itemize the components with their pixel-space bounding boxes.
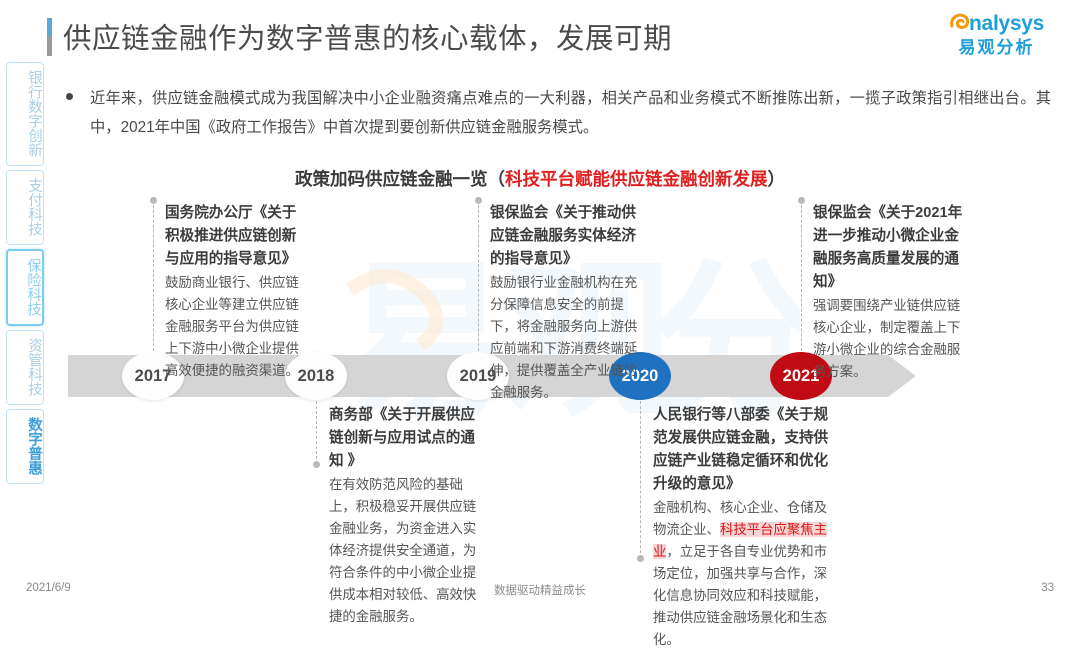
sidebar-item-label: 资管科技	[24, 338, 43, 396]
connector-2021	[801, 200, 802, 356]
sidebar-item-payment-tech[interactable]: 支付科技	[6, 170, 44, 245]
sidebar-item-label: 银行数字创新	[24, 70, 43, 157]
policy-card-heading: 商务部《关于开展供应链创新与应用试点的通知 》	[329, 404, 481, 473]
sidebar-item-insurance-tech[interactable]: 保险科技	[6, 249, 44, 326]
logo-text: nalysys	[969, 12, 1044, 35]
sidebar-item-label: 保险科技	[23, 258, 42, 316]
policy-card-heading: 银保监会《关于推动供应链金融服务实体经济的指导意见》	[490, 202, 640, 271]
page-title: 供应链金融作为数字普惠的核心载体，发展可期	[63, 16, 672, 57]
logo-wordmark: nalysys	[949, 12, 1044, 37]
policy-card-2020: 人民银行等八部委《关于规范发展供应链金融，支持供应链产业链稳定循环和优化升级的意…	[653, 404, 839, 651]
footer-page-number: 33	[1041, 582, 1054, 594]
sidebar: 银行数字创新 支付科技 保险科技 资管科技 数字普惠	[6, 62, 46, 488]
chart-title-main: 政策加码供应链金融一览	[295, 169, 488, 189]
policy-card-2019: 银保监会《关于推动供应链金融服务实体经济的指导意见》 鼓励银行业金融机构在充分保…	[490, 202, 640, 404]
sidebar-item-label: 支付科技	[24, 178, 43, 236]
title-accent-bar	[47, 18, 52, 56]
sidebar-item-bank-digital-innovation[interactable]: 银行数字创新	[6, 62, 44, 166]
policy-card-body-2020: 金融机构、核心企业、仓储及物流企业、科技平台应聚焦主业，立足于各自专业优势和市场…	[653, 497, 839, 651]
policy-card-2018: 商务部《关于开展供应链创新与应用试点的通知 》 在有效防范风险的基础上，积极稳妥…	[329, 404, 481, 628]
policy-card-2021: 银保监会《关于2021年进一步推动小微企业金融服务高质量发展的通知》 强调要围绕…	[813, 202, 965, 383]
connector-2020	[640, 396, 641, 558]
sidebar-item-asset-management-tech[interactable]: 资管科技	[6, 330, 44, 405]
swoosh-icon	[949, 12, 971, 37]
policy-card-heading: 人民银行等八部委《关于规范发展供应链金融，支持供应链产业链稳定循环和优化升级的意…	[653, 404, 839, 496]
logo-subtitle: 易观分析	[949, 38, 1044, 58]
policy-card-body: 强调要围绕产业链供应链核心企业，制定覆盖上下游小微企业的综合金融服务方案。	[813, 295, 965, 383]
lead-paragraph: 近年来，供应链金融模式成为我国解决中小企业融资痛点难点的一大利器，相关产品和业务…	[66, 84, 1051, 142]
connector-dot-2018	[313, 461, 320, 468]
policy-card-heading: 银保监会《关于2021年进一步推动小微企业金融服务高质量发展的通知》	[813, 202, 965, 294]
chart-title-paren-close: ）	[768, 169, 786, 189]
connector-dot-2021	[798, 197, 805, 204]
connector-dot-2020	[637, 555, 644, 562]
sidebar-item-label: 数字普惠	[24, 417, 43, 475]
policy-card-body: 鼓励商业银行、供应链核心企业等建立供应链金融服务平台为供应链上下游中小微企业提供…	[165, 272, 310, 382]
chart-title-paren-open: （	[488, 169, 506, 189]
lead-paragraph-text: 近年来，供应链金融模式成为我国解决中小企业融资痛点难点的一大利器，相关产品和业务…	[90, 84, 1051, 142]
policy-card-body: 鼓励银行业金融机构在充分保障信息安全的前提下，将金融服务向上游供应前端和下游消费…	[490, 272, 640, 404]
connector-dot-2017	[150, 197, 157, 204]
policy-card-body: 在有效防范风险的基础上，积极稳妥开展供应链金融业务，为资金进入实体经济提供安全通…	[329, 474, 481, 628]
policy-card-heading: 国务院办公厅《关于积极推进供应链创新与应用的指导意见》	[165, 202, 310, 271]
chart-title-emphasis: 科技平台赋能供应链金融创新发展	[505, 169, 768, 189]
connector-2018	[316, 396, 317, 464]
analysys-logo: nalysys 易观分析	[949, 12, 1044, 58]
connector-2019	[478, 200, 479, 356]
connector-dot-2019	[475, 197, 482, 204]
footer: 2021/6/9 数据驱动精益成长 33	[0, 582, 1080, 600]
footer-slogan: 数据驱动精益成长	[0, 582, 1080, 598]
sidebar-item-digital-inclusive-finance[interactable]: 数字普惠	[6, 409, 44, 484]
chart-title: 政策加码供应链金融一览（科技平台赋能供应链金融创新发展）	[0, 166, 1080, 191]
bullet-icon	[66, 93, 73, 100]
policy-body-part2: ，立足于各自专业优势和市场定位，加强共享与合作，深化信息协同效应和科技赋能，推动…	[653, 544, 827, 647]
connector-2017	[153, 200, 154, 356]
policy-card-2017: 国务院办公厅《关于积极推进供应链创新与应用的指导意见》 鼓励商业银行、供应链核心…	[165, 202, 310, 382]
page-header: 供应链金融作为数字普惠的核心载体，发展可期	[47, 16, 672, 57]
